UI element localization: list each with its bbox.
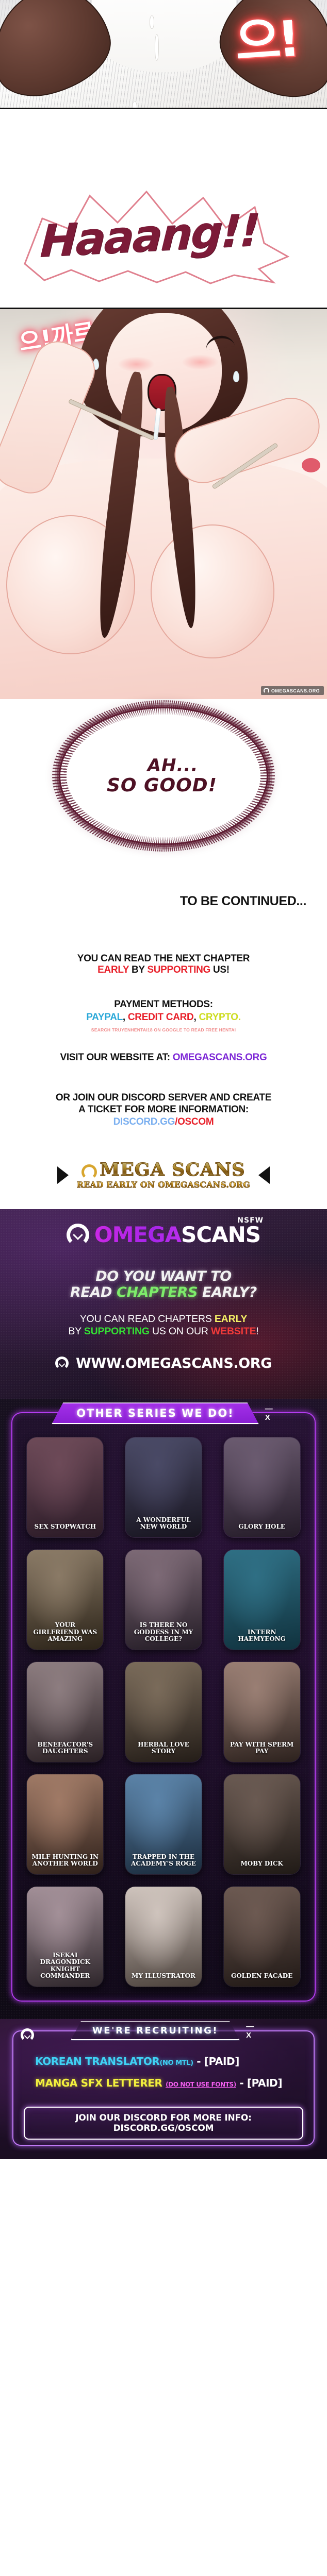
promo-sub-us-text: US ON OUR <box>150 1326 211 1337</box>
omega-icon <box>264 688 269 693</box>
omega-icon <box>67 1224 89 1246</box>
promo-headline-line-2: READ CHAPTERS EARLY? <box>0 1285 327 1300</box>
chapter-end-page: 으! Haaang!! 으!까르 OMEGASCANS.OR <box>0 0 327 2159</box>
series-title: A WONDERFUL NEW WORLD <box>125 1517 202 1531</box>
ah-so-good-section: AH... SO GOOD! <box>0 699 327 854</box>
figure-body-right <box>151 524 274 658</box>
early-highlight: EARLY <box>97 964 129 975</box>
series-title: BENEFACTOR'S DAUGHTERS <box>27 1741 103 1755</box>
promo-website-url[interactable]: WWW.OMEGASCANS.ORG <box>76 1355 272 1371</box>
promo-headline-line-1: DO YOU WANT TO <box>0 1269 327 1284</box>
promo-banner: OMEGASCANSNSFW DO YOU WANT TO READ CHAPT… <box>0 1209 327 1399</box>
discord-link[interactable]: DISCORD.GG/OSCOM <box>7 1116 320 1128</box>
series-card[interactable]: TRAPPED IN THE ACADEMY'S ROGE <box>125 1774 202 1875</box>
support-message: YOU CAN READ THE NEXT CHAPTER EARLY BY S… <box>7 953 320 976</box>
series-window-title: OTHER SERIES WE DO! <box>52 1402 259 1424</box>
bubble-line-1: AH... <box>148 756 199 775</box>
payment-methods-line: PAYPAL, CREDIT CARD, CRYPTO. <box>7 1012 320 1023</box>
figure-torso <box>92 0 236 72</box>
discord-heading-line-1: OR JOIN OUR DISCORD SERVER AND CREATE <box>7 1092 320 1104</box>
gold-logo-title: MEGA SCANS <box>100 1161 245 1179</box>
sweat-drop <box>233 371 239 382</box>
figure-tongue <box>302 458 320 472</box>
comic-panel-haaang: Haaang!! <box>0 109 327 308</box>
series-grid: SEX STOPWATCHA WONDERFUL NEW WORLDGLORY … <box>21 1437 306 1987</box>
promo-sub-early-highlight: EARLY <box>215 1313 247 1325</box>
gold-logo-subtitle: READ EARLY ON OMEGASCANS.ORG <box>77 1180 250 1190</box>
support-us-text: US! <box>210 964 230 975</box>
role-name: KOREAN TRANSLATOR <box>35 2055 159 2067</box>
promo-content: OMEGASCANSNSFW DO YOU WANT TO READ CHAPT… <box>0 1209 327 1371</box>
role-dash: - <box>236 2077 247 2089</box>
promo-chapters-highlight: CHAPTERS <box>117 1284 198 1300</box>
series-window: OTHER SERIES WE DO! — X SEX STOPWATCHA W… <box>11 1412 316 2002</box>
series-title: MOBY DICK <box>224 1860 300 1867</box>
series-title: INTERN HAEMYEONG <box>224 1629 300 1643</box>
payment-paypal: PAYPAL <box>86 1012 123 1023</box>
promo-sub-read-text: YOU CAN READ CHAPTERS <box>80 1313 215 1325</box>
role-korean-translator: KOREAN TRANSLATOR(NO MTL) - [PAID] <box>35 2055 303 2067</box>
supporting-highlight: SUPPORTING <box>147 964 210 975</box>
promo-subtext: YOU CAN READ CHAPTERS EARLY BY SUPPORTIN… <box>0 1313 327 1338</box>
role-manga-sfx-letterer: MANGA SFX LETTERER (DO NOT USE FONTS) - … <box>35 2077 303 2089</box>
series-card[interactable]: MOBY DICK <box>223 1774 301 1875</box>
series-card[interactable]: MY ILLUSTRATOR <box>125 1886 202 1987</box>
series-title: SEX STOPWATCH <box>27 1523 103 1530</box>
series-card[interactable]: SEX STOPWATCH <box>26 1437 104 1538</box>
promo-subtext-line-2: BY SUPPORTING US ON OUR WEBSITE! <box>0 1325 327 1337</box>
role-note: (DO NOT USE FONTS) <box>166 2081 236 2088</box>
promo-brand-scans: SCANS <box>181 1222 260 1247</box>
promo-early-text: EARLY? <box>198 1284 257 1300</box>
promo-sub-excl: ! <box>256 1326 258 1337</box>
series-title: PAY WITH SPERM PAY <box>224 1741 300 1755</box>
window-controls-icon[interactable]: — X <box>246 2022 256 2040</box>
face-blush-left <box>118 357 155 372</box>
series-title: GOLDEN FACADE <box>224 1973 300 1979</box>
series-card[interactable]: PAY WITH SPERM PAY <box>223 1662 301 1762</box>
other-series-section: OTHER SERIES WE DO! — X SEX STOPWATCHA W… <box>0 1399 327 2019</box>
drip-shape <box>132 101 137 109</box>
gold-logo-title-row: MEGA SCANS <box>77 1161 250 1179</box>
watermark: OMEGASCANS.ORG <box>261 686 324 695</box>
promo-subtext-line-1: YOU CAN READ CHAPTERS EARLY <box>0 1313 327 1325</box>
payment-sep-1: , <box>123 1012 128 1023</box>
omega-icon <box>21 2028 34 2042</box>
series-card[interactable]: ISEKAI DRAGONDICK KNIGHT COMMANDER <box>26 1886 104 1987</box>
drip-shape <box>155 34 159 61</box>
role-name: MANGA SFX LETTERER <box>35 2077 162 2089</box>
website-label: VISIT OUR WEBSITE AT: <box>60 1052 173 1063</box>
series-title: TRAPPED IN THE ACADEMY'S ROGE <box>125 1854 202 1868</box>
payment-credit-card: CREDIT CARD <box>128 1012 194 1023</box>
series-title: MY ILLUSTRATOR <box>125 1973 202 1979</box>
nsfw-badge: NSFW <box>237 1217 264 1224</box>
series-title: YOUR GIRLFRIEND WAS AMAZING <box>27 1622 103 1642</box>
website-line: VISIT OUR WEBSITE AT: OMEGASCANS.ORG <box>7 1052 320 1063</box>
comic-panel-closeup: 으!까르 OMEGASCANS.ORG <box>0 308 327 699</box>
payment-sep-2: , <box>193 1012 199 1023</box>
recruiting-window-titlebar: WE'RE RECRUITING! — X <box>71 2021 256 2040</box>
series-card[interactable]: A WONDERFUL NEW WORLD <box>125 1437 202 1538</box>
series-card[interactable]: HERBAL LOVE STORY <box>125 1662 202 1762</box>
speech-bubble-text: AH... SO GOOD! <box>60 708 267 843</box>
speech-bubble-radial: AH... SO GOOD! <box>60 708 267 843</box>
triangle-left-icon <box>258 1166 270 1184</box>
sfx-korean-icon: 으! <box>234 16 299 65</box>
face-blush-right <box>182 354 219 370</box>
support-message-line-1: YOU CAN READ THE NEXT CHAPTER <box>7 953 320 964</box>
promo-sub-by-text: BY <box>68 1326 84 1337</box>
gold-logo-block: MEGA SCANS READ EARLY ON OMEGASCANS.ORG <box>77 1161 250 1190</box>
role-dash: - <box>193 2055 204 2067</box>
promo-brand: OMEGASCANSNSFW <box>94 1224 260 1246</box>
promo-brand-omega: OMEGA <box>94 1222 181 1247</box>
to-be-continued-text: TO BE CONTINUED... <box>7 854 320 909</box>
promo-sub-website-highlight: WEBSITE <box>211 1326 256 1337</box>
role-pay-badge: [PAID] <box>204 2055 239 2067</box>
series-window-titlebar: OTHER SERIES WE DO! — X <box>52 1402 275 1424</box>
drip-shape <box>150 15 154 29</box>
recruiting-window-title: WE'RE RECRUITING! <box>71 2021 240 2040</box>
support-message-line-2: EARLY BY SUPPORTING US! <box>7 964 320 976</box>
promo-url-row[interactable]: WWW.OMEGASCANS.ORG <box>0 1355 327 1371</box>
search-note-text: SEARCH TRUYENHENTAI18 ON GOOGLE TO READ … <box>7 1027 320 1032</box>
payment-crypto: CRYPTO. <box>199 1012 240 1023</box>
promo-logo-row: OMEGASCANSNSFW <box>0 1209 327 1246</box>
series-title: MILF HUNTING IN ANOTHER WORLD <box>27 1854 103 1868</box>
role-note: (NO MTL) <box>159 2059 193 2067</box>
recruiting-discord-cta[interactable]: JOIN OUR DISCORD FOR MORE INFO: DISCORD.… <box>24 2107 303 2140</box>
series-card[interactable]: YOUR GIRLFRIEND WAS AMAZING <box>26 1549 104 1650</box>
series-title: GLORY HOLE <box>224 1523 300 1530</box>
discord-heading: OR JOIN OUR DISCORD SERVER AND CREATE A … <box>7 1092 320 1115</box>
promo-sub-supporting-highlight: SUPPORTING <box>84 1326 150 1337</box>
promo-read-text: READ <box>70 1284 117 1300</box>
omega-icon <box>55 1357 69 1370</box>
series-card[interactable]: GOLDEN FACADE <box>223 1886 301 1987</box>
series-card[interactable]: BENEFACTOR'S DAUGHTERS <box>26 1662 104 1762</box>
series-title: HERBAL LOVE STORY <box>125 1741 202 1755</box>
support-by-text: BY <box>129 964 147 975</box>
discord-invite-code: /OSCOM <box>175 1116 214 1127</box>
series-card[interactable]: IS THERE NO GODDESS IN MY COLLEGE? <box>125 1549 202 1650</box>
series-card[interactable]: GLORY HOLE <box>223 1437 301 1538</box>
discord-heading-line-2: A TICKET FOR MORE INFORMATION: <box>7 1104 320 1115</box>
discord-domain: DISCORD.GG <box>113 1116 175 1127</box>
omega-icon <box>81 1164 97 1180</box>
triangle-right-icon <box>57 1166 69 1184</box>
comic-panel-hands: 으! <box>0 0 327 109</box>
payment-heading: PAYMENT METHODS: <box>7 999 320 1010</box>
series-title: ISEKAI DRAGONDICK KNIGHT COMMANDER <box>27 1952 103 1980</box>
bubble-line-2: SO GOOD! <box>107 775 217 796</box>
credits-section: TO BE CONTINUED... YOU CAN READ THE NEXT… <box>0 854 327 1209</box>
role-pay-badge: [PAID] <box>247 2077 282 2089</box>
recruiting-section: WE'RE RECRUITING! — X KOREAN TRANSLATOR(… <box>0 2019 327 2159</box>
recruiting-window: WE'RE RECRUITING! — X KOREAN TRANSLATOR(… <box>12 2030 315 2146</box>
gold-logo-banner: MEGA SCANS READ EARLY ON OMEGASCANS.ORG <box>7 1161 320 1204</box>
series-card[interactable]: MILF HUNTING IN ANOTHER WORLD <box>26 1774 104 1875</box>
series-title: IS THERE NO GODDESS IN MY COLLEGE? <box>125 1622 202 1642</box>
series-card[interactable]: INTERN HAEMYEONG <box>223 1549 301 1650</box>
website-url-link[interactable]: OMEGASCANS.ORG <box>173 1052 267 1063</box>
window-controls-icon[interactable]: — X <box>265 1404 275 1422</box>
watermark-text: OMEGASCANS.ORG <box>271 688 320 693</box>
promo-headline: DO YOU WANT TO READ CHAPTERS EARLY? <box>0 1269 327 1300</box>
